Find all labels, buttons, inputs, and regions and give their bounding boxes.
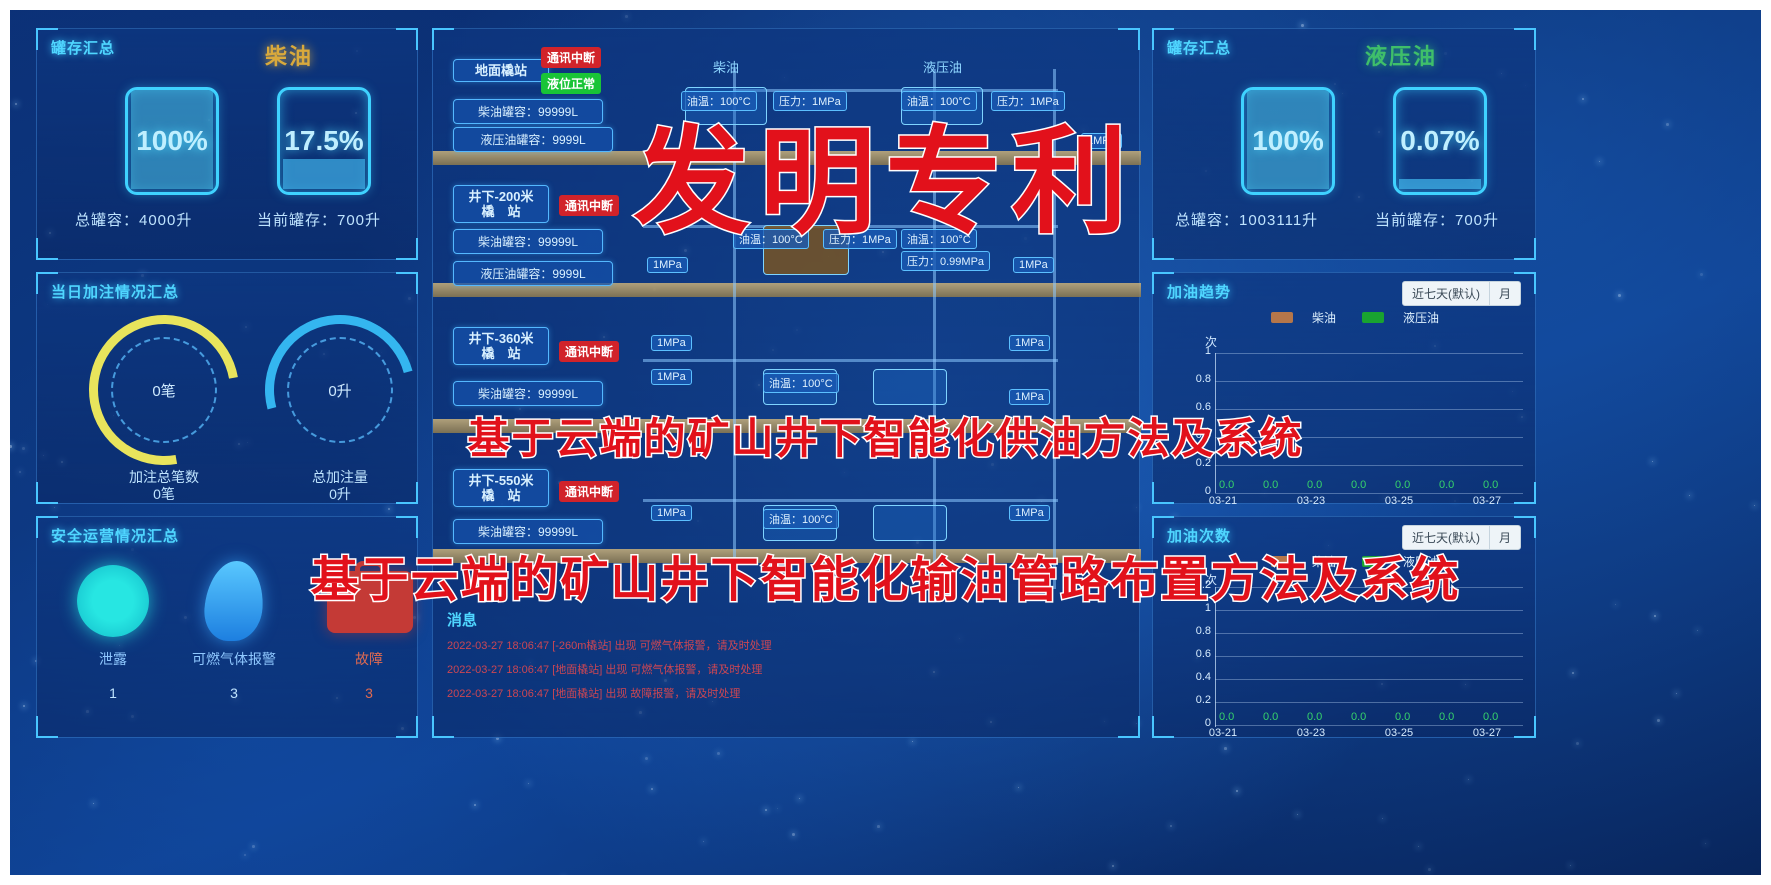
outer-white-frame <box>0 0 1771 885</box>
dashboard-root: 罐存汇总 柴油 100% 17.5% 总罐容：4000升 当前罐存：700升 当… <box>0 0 1771 885</box>
